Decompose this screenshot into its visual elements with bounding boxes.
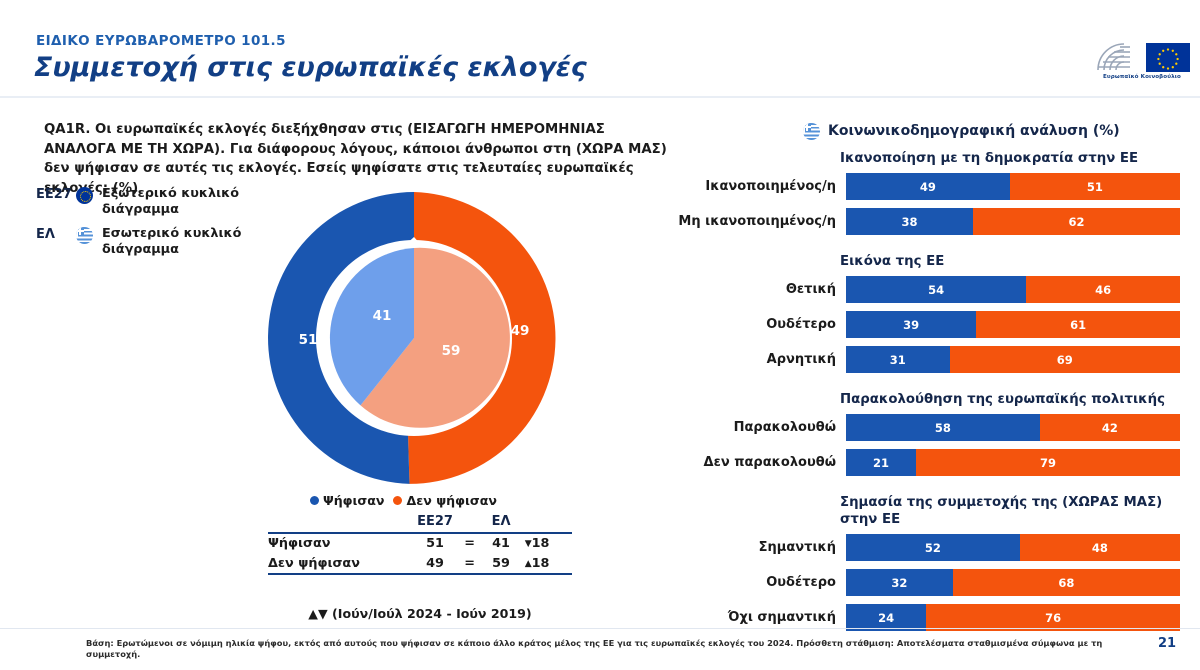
socio-demographic-bar-chart: Ικανοποίηση με τη δημοκρατία στην ΕΕΙκαν…: [660, 150, 1180, 639]
table-cell-el: 59: [482, 554, 519, 575]
table-cell-delta: ▼18: [520, 534, 572, 554]
bar-row-label: Μη ικανοποιημένος/η: [660, 214, 846, 229]
donut-chart-key: ΕΕ27 Εξωτερικό κυκλικό διάγραμμα ΕΛ Εσωτ…: [36, 186, 251, 266]
donut-value-eu-not-voted: 49: [511, 323, 530, 339]
table-cell-label: Δεν ψήφισαν: [268, 554, 413, 575]
bar-group-title: Ικανοποίηση με τη δημοκρατία στην ΕΕ: [840, 150, 1180, 167]
table-cell-eu: 49: [413, 554, 457, 575]
bar-segment-not-voted: 68: [953, 569, 1180, 596]
bar-row: Ουδέτερο3961: [660, 311, 1180, 338]
table-bottom-rule: [268, 574, 572, 575]
bar-segment-voted: 58: [846, 414, 1040, 441]
eu-flag-icon: [76, 187, 93, 204]
bar-row: Σημαντική5248: [660, 534, 1180, 561]
ep-logo-caption: Ευρωπαϊκό Κοινοβούλιο: [1090, 74, 1194, 80]
chart-key-code-eu: ΕΕ27: [36, 186, 76, 202]
chart-key-code-el: ΕΛ: [36, 226, 76, 242]
bar-track: 2179: [846, 449, 1180, 476]
bar-segment-not-voted: 62: [973, 208, 1180, 235]
ep-logo-mark: [1090, 36, 1194, 74]
greece-flag-icon: [76, 227, 93, 244]
header-divider: [0, 96, 1200, 98]
bar-row: Μη ικανοποιημένος/η3862: [660, 208, 1180, 235]
table-header-el: ΕΛ: [482, 514, 519, 533]
delta-note: ▲▼ (Ιούν/Ιούλ 2024 - Ιούν 2019): [268, 606, 572, 621]
bar-segment-not-voted: 42: [1040, 414, 1180, 441]
bar-group-title: Σημασία της συμμετοχής της (ΧΩΡΑΣ ΜΑΣ) σ…: [840, 494, 1180, 528]
bar-segment-not-voted: 79: [916, 449, 1180, 476]
bar-track: 5248: [846, 534, 1180, 561]
donut-value-el-not-voted: 59: [442, 343, 461, 359]
bar-row: Ουδέτερο3268: [660, 569, 1180, 596]
donut-svg: 51 49 41 59: [268, 192, 560, 484]
page-number: 21: [1158, 636, 1176, 651]
bar-segment-voted: 49: [846, 173, 1010, 200]
chart-key-row-eu: ΕΕ27 Εξωτερικό κυκλικό διάγραμμα: [36, 186, 251, 219]
bar-row: Παρακολουθώ5842: [660, 414, 1180, 441]
trend-down-icon: ▼: [525, 539, 532, 549]
bar-track: 3961: [846, 311, 1180, 338]
comparison-table: ΕΕ27 ΕΛ Ψήφισαν 51 = 41 ▼18 Δεν ψήφισαν …: [268, 514, 572, 575]
bar-track: 5446: [846, 276, 1180, 303]
series-legend: Ψήφισαν Δεν ψήφισαν: [310, 493, 506, 508]
participation-donut-chart: 51 49 41 59: [268, 192, 560, 484]
bar-row: Δεν παρακολουθώ2179: [660, 449, 1180, 476]
bar-group-title: Παρακολούθηση της ευρωπαϊκής πολιτικής: [840, 391, 1180, 408]
chart-key-label-el: Εσωτερικό κυκλικό διάγραμμα: [102, 226, 251, 259]
bar-segment-not-voted: 69: [950, 346, 1180, 373]
bar-row: Θετική5446: [660, 276, 1180, 303]
table-row: Ψήφισαν 51 = 41 ▼18: [268, 534, 572, 554]
table-cell-delta: ▲18: [520, 554, 572, 575]
chart-key-row-el: ΕΛ Εσωτερικό κυκλικό διάγραμμα: [36, 226, 251, 259]
bar-segment-voted: 39: [846, 311, 976, 338]
bar-track: 3169: [846, 346, 1180, 373]
bar-group-spacer: [660, 243, 1180, 253]
socio-demographic-header: Κοινωνικοδημογραφική ανάλυση (%): [803, 122, 1120, 140]
page-title: Συμμετοχή στις ευρωπαϊκές εκλογές: [34, 52, 587, 83]
legend-label-voted: Ψήφισαν: [323, 493, 384, 508]
bar-row: Ικανοποιημένος/η4951: [660, 173, 1180, 200]
bar-segment-voted: 54: [846, 276, 1026, 303]
bar-row-label: Ικανοποιημένος/η: [660, 179, 846, 194]
legend-dot-voted: [310, 496, 319, 505]
legend-dot-not-voted: [393, 496, 402, 505]
bar-segment-voted: 38: [846, 208, 973, 235]
table-cell-eq: =: [457, 534, 482, 554]
table-header-row: ΕΕ27 ΕΛ: [268, 514, 572, 533]
bar-segment-voted: 32: [846, 569, 953, 596]
bar-track: 3862: [846, 208, 1180, 235]
bar-row-label: Αρνητική: [660, 352, 846, 367]
bar-track: 4951: [846, 173, 1180, 200]
bar-row: Αρνητική3169: [660, 346, 1180, 373]
trend-up-icon: ▲: [525, 559, 532, 569]
bar-row-label: Ουδέτερο: [660, 575, 846, 590]
footer-divider: [0, 628, 1200, 629]
socio-demographic-title: Κοινωνικοδημογραφική ανάλυση (%): [828, 123, 1120, 139]
survey-eyebrow: ΕΙΔΙΚΟ ΕΥΡΩΒΑΡΟΜΕΤΡΟ 101.5: [36, 33, 286, 49]
bar-row-label: Θετική: [660, 282, 846, 297]
bar-track: 5842: [846, 414, 1180, 441]
donut-value-el-voted: 41: [373, 308, 392, 324]
series-legend-item-voted: Ψήφισαν: [310, 493, 384, 508]
bar-segment-voted: 21: [846, 449, 916, 476]
bar-row-label: Δεν παρακολουθώ: [660, 455, 846, 470]
table-header-eu: ΕΕ27: [413, 514, 457, 533]
donut-value-eu-voted: 51: [299, 332, 318, 348]
bar-segment-not-voted: 61: [976, 311, 1180, 338]
bar-group-spacer: [660, 381, 1180, 391]
table-cell-delta-value: 18: [532, 556, 550, 571]
slide-root: ΕΙΔΙΚΟ ΕΥΡΩΒΑΡΟΜΕΤΡΟ 101.5 Συμμετοχή στι…: [0, 0, 1200, 670]
bar-segment-not-voted: 46: [1026, 276, 1180, 303]
greece-flag-icon: [803, 123, 820, 140]
bar-segment-not-voted: 51: [1010, 173, 1180, 200]
bar-group-spacer: [660, 484, 1180, 494]
bar-group-title: Εικόνα της ΕΕ: [840, 253, 1180, 270]
table-cell-eq: =: [457, 554, 482, 575]
table-row: Δεν ψήφισαν 49 = 59 ▲18: [268, 554, 572, 575]
bar-track: 3268: [846, 569, 1180, 596]
european-parliament-logo: Ευρωπαϊκό Κοινοβούλιο: [1090, 36, 1194, 88]
table-cell-delta-value: 18: [532, 536, 550, 551]
table-cell-eu: 51: [413, 534, 457, 554]
series-legend-item-not-voted: Δεν ψήφισαν: [393, 493, 496, 508]
bar-row-label: Όχι σημαντική: [660, 610, 846, 625]
legend-label-not-voted: Δεν ψήφισαν: [406, 493, 496, 508]
bar-segment-voted: 52: [846, 534, 1020, 561]
bar-segment-voted: 31: [846, 346, 950, 373]
table-cell-label: Ψήφισαν: [268, 534, 413, 554]
bar-row-label: Ουδέτερο: [660, 317, 846, 332]
bar-segment-not-voted: 48: [1020, 534, 1180, 561]
chart-key-label-eu: Εξωτερικό κυκλικό διάγραμμα: [102, 186, 251, 219]
table-cell-el: 41: [482, 534, 519, 554]
bar-row-label: Παρακολουθώ: [660, 420, 846, 435]
footnote: Βάση: Ερωτώμενοι σε νόμιμη ηλικία ψήφου,…: [86, 638, 1136, 660]
bar-row-label: Σημαντική: [660, 540, 846, 555]
